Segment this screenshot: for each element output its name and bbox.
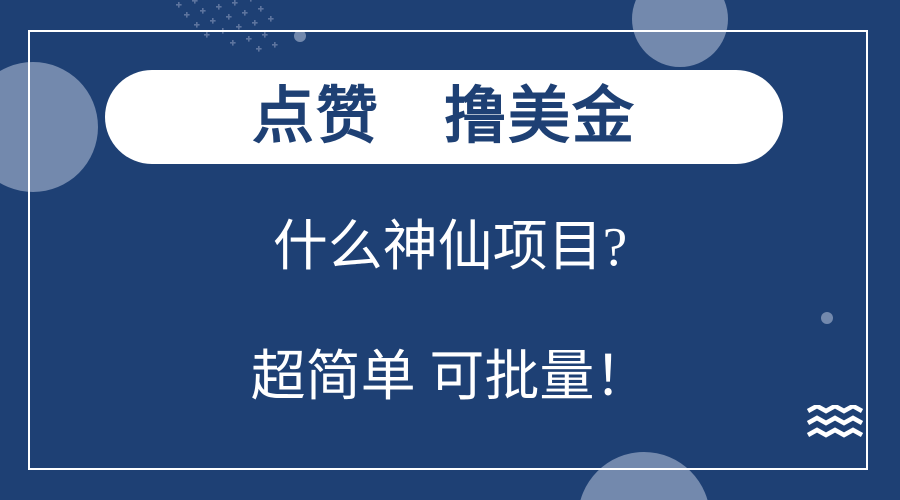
headline-pill: 点赞 撸美金 [105, 70, 783, 164]
subtitle-line-1: 什么神仙项目? [0, 215, 900, 278]
subtitle-line-2: 超简单 可批量！ [0, 345, 900, 408]
headline-text: 点赞 撸美金 [252, 86, 636, 148]
poster-canvas: 点赞 撸美金 什么神仙项目? 超简单 可批量！ [0, 0, 900, 500]
poster-content: 点赞 撸美金 什么神仙项目? 超简单 可批量！ [0, 0, 900, 500]
